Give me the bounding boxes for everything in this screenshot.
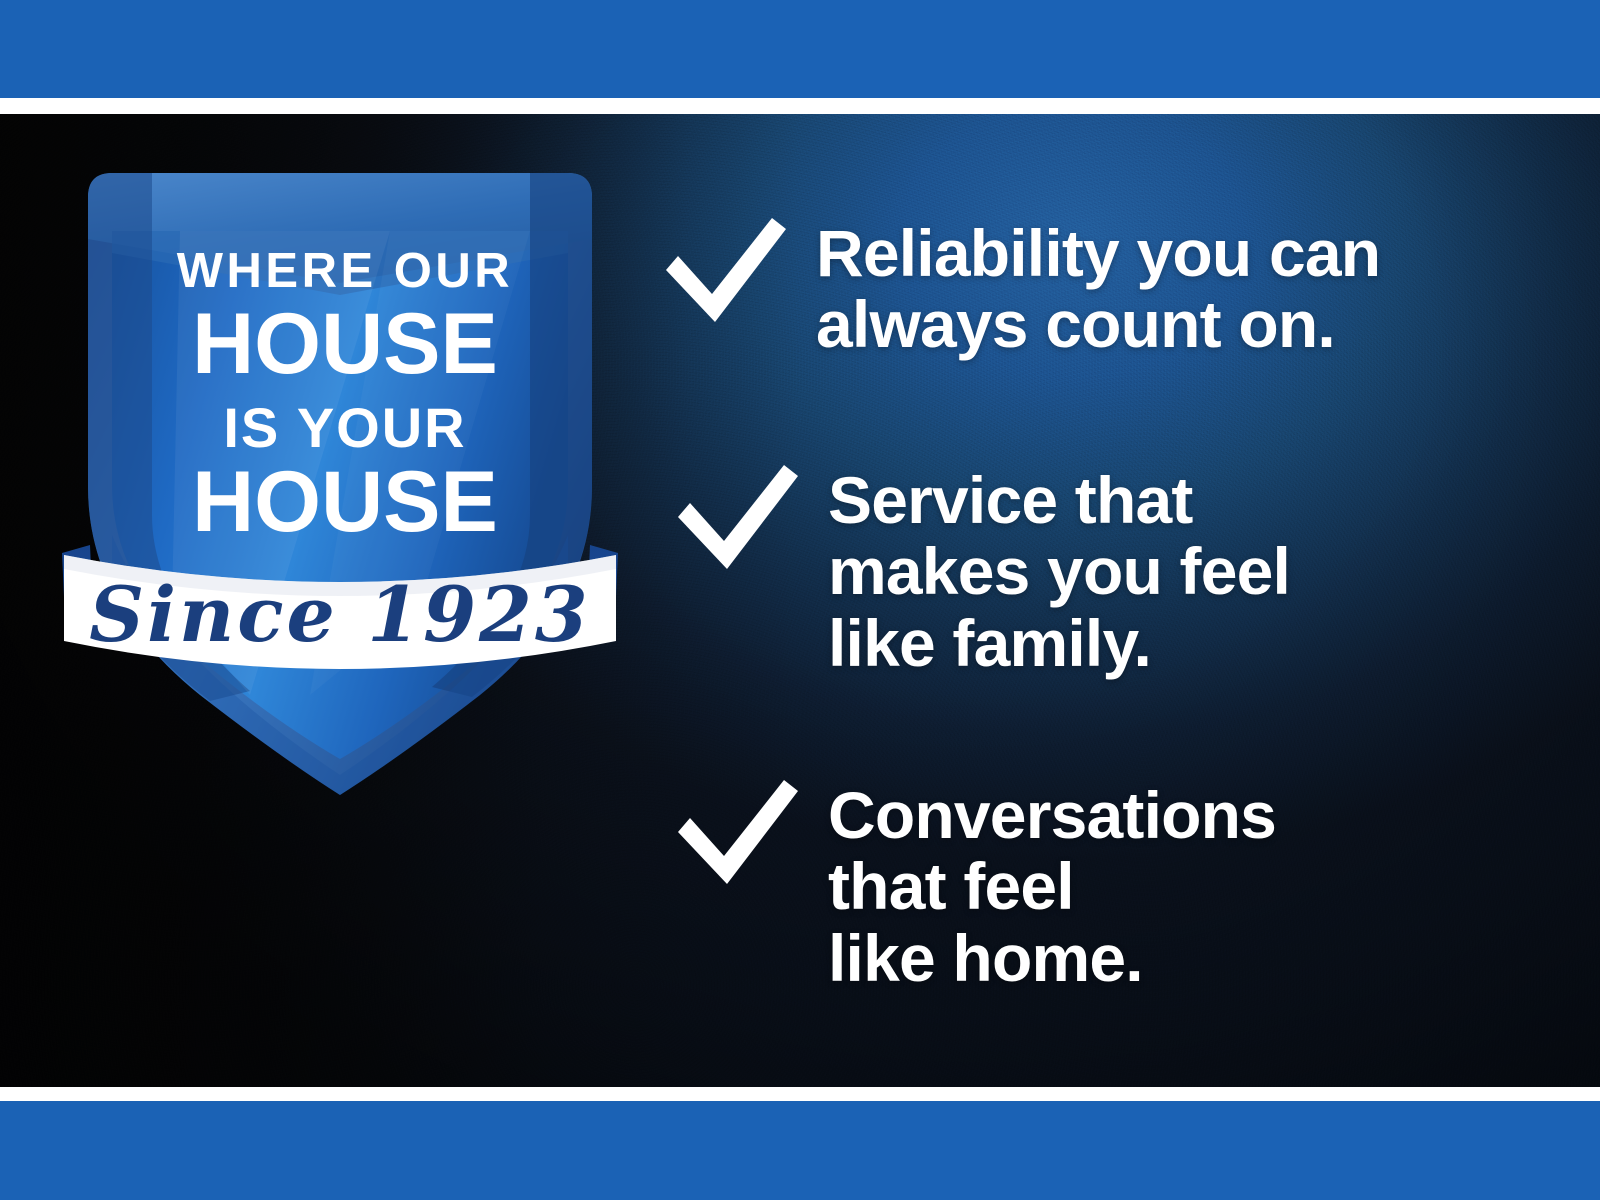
top-brand-bar [0, 0, 1600, 98]
shield-line-2: HOUSE [192, 296, 498, 392]
bottom-brand-bar [0, 1101, 1600, 1200]
benefit-item-1: Reliability you can always count on. [660, 212, 1380, 361]
benefit-item-3: Conversations that feel like home. [672, 774, 1276, 994]
top-white-divider [0, 98, 1600, 114]
shield-line-3: IS YOUR [223, 396, 466, 459]
shield-line-1: WHERE OUR [177, 244, 513, 298]
promotional-poster: WHERE OUR HOUSE IS YOUR HOUSE Since 1923 [0, 0, 1600, 1200]
benefits-list: Reliability you can always count on. Ser… [660, 114, 1540, 1087]
shield-text-block: WHERE OUR HOUSE IS YOUR HOUSE [177, 244, 513, 550]
company-shield-logo: WHERE OUR HOUSE IS YOUR HOUSE Since 1923 [60, 135, 620, 815]
shield-line-4: HOUSE [192, 454, 498, 550]
check-icon [672, 778, 800, 896]
check-icon [672, 463, 800, 581]
benefit-text-3: Conversations that feel like home. [828, 774, 1276, 994]
bottom-white-divider [0, 1087, 1600, 1101]
check-icon [660, 216, 788, 334]
benefit-text-1: Reliability you can always count on. [816, 212, 1380, 361]
benefit-text-2: Service that makes you feel like family. [828, 459, 1290, 679]
benefit-item-2: Service that makes you feel like family. [672, 459, 1290, 679]
banner-text: Since 1923 [89, 570, 591, 659]
